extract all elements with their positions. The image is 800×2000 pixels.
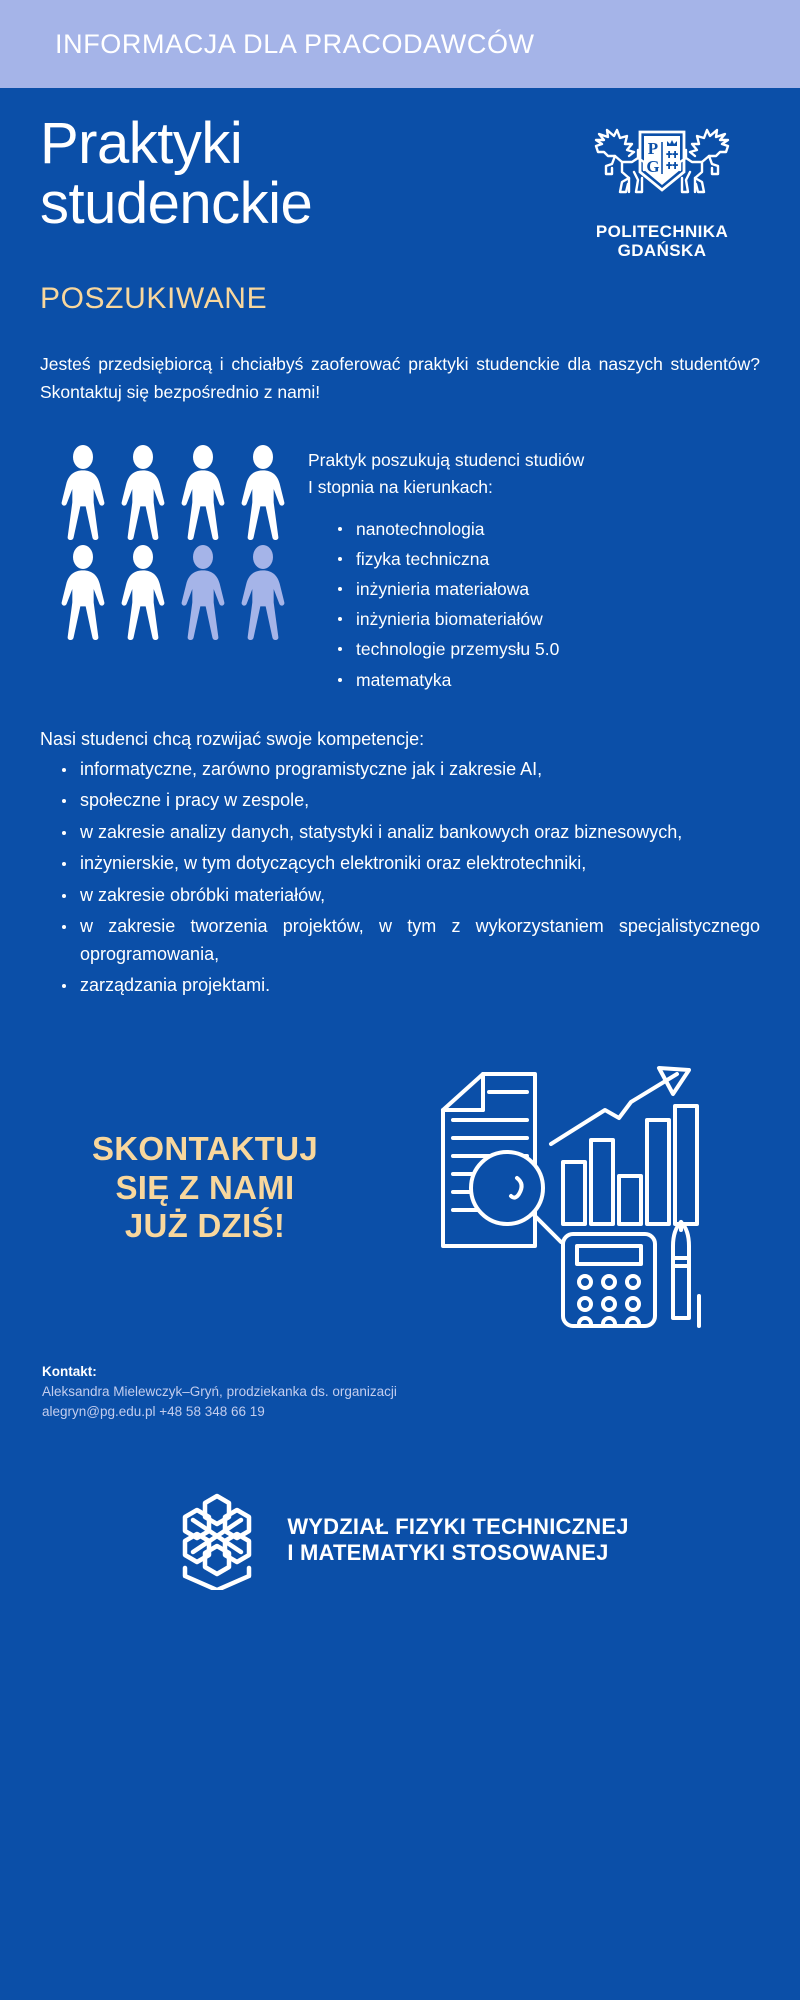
fields-section: Praktyk poszukują studenci studiów I sto… bbox=[40, 445, 760, 695]
list-item: matematyka bbox=[338, 665, 584, 695]
cta-headline: SKONTAKTUJ SIĘ Z NAMI JUŻ DZIŚ! bbox=[40, 1130, 370, 1245]
shield-letter-p: P bbox=[648, 139, 658, 158]
university-logo: P G POLITECHNIKA GDAŃSKA bbox=[572, 122, 752, 260]
contact-person: Aleksandra Mielewczyk–Gryń, prodziekanka… bbox=[42, 1382, 760, 1402]
intro-paragraph: Jesteś przedsiębiorcą i chciałbyś zaofer… bbox=[40, 350, 760, 407]
cta-section: SKONTAKTUJ SIĘ Z NAMI JUŻ DZIŚ! bbox=[40, 1048, 760, 1328]
competences-lead: Nasi studenci chcą rozwijać swoje kompet… bbox=[40, 729, 760, 750]
person-icon-4 bbox=[236, 445, 290, 541]
contact-label: Kontakt: bbox=[42, 1364, 760, 1379]
list-item: zarządzania projektami. bbox=[62, 972, 760, 1000]
person-icon-7-dim bbox=[176, 545, 230, 641]
list-item: technologie przemysłu 5.0 bbox=[338, 634, 584, 664]
list-item: w zakresie tworzenia projektów, w tym z … bbox=[62, 913, 760, 968]
header-banner: INFORMACJA DLA PRACODAWCÓW bbox=[0, 0, 800, 88]
pg-crest-icon: P G bbox=[582, 122, 742, 214]
illustration-svg bbox=[405, 1048, 725, 1328]
magnifier-icon bbox=[471, 1152, 561, 1242]
people-graphic bbox=[40, 445, 290, 641]
page-subtitle: POSZUKIWANE bbox=[40, 282, 760, 316]
person-icon-3 bbox=[176, 445, 230, 541]
list-item: w zakresie obróbki materiałów, bbox=[62, 882, 760, 910]
list-item: w zakresie analizy danych, statystyki i … bbox=[62, 819, 760, 847]
calculator-icon bbox=[563, 1234, 655, 1328]
competences-list: informatyczne, zarówno programistyczne j… bbox=[40, 756, 760, 1000]
fields-lead: Praktyk poszukują studenci studiów I sto… bbox=[308, 447, 584, 502]
title-row: Praktyki studenckie bbox=[40, 88, 760, 260]
poster-body: Praktyki studenckie bbox=[0, 88, 800, 1590]
list-item: inżynieria biomateriałów bbox=[338, 604, 584, 634]
list-item: inżynierskie, w tym dotyczących elektron… bbox=[62, 850, 760, 878]
contact-email-phone[interactable]: alegryn@pg.edu.pl +48 58 348 66 19 bbox=[42, 1402, 760, 1422]
faculty-footer: WYDZIAŁ FIZYKI TECHNICZNEJ I MATEMATYKI … bbox=[40, 1490, 760, 1590]
person-icon-5 bbox=[56, 545, 110, 641]
pen-icon bbox=[673, 1222, 699, 1326]
university-logo-name: POLITECHNIKA GDAŃSKA bbox=[572, 222, 752, 260]
page-title: Praktyki studenckie bbox=[40, 114, 312, 235]
person-icon-1 bbox=[56, 445, 110, 541]
person-icon-2 bbox=[116, 445, 170, 541]
faculty-molecule-icon bbox=[171, 1490, 263, 1590]
contact-block: Kontakt: Aleksandra Mielewczyk–Gryń, pro… bbox=[40, 1364, 760, 1423]
list-item: fizyka techniczna bbox=[338, 544, 584, 574]
shield-letter-g: G bbox=[646, 157, 659, 176]
business-analytics-illustration bbox=[370, 1048, 760, 1328]
fields-text-block: Praktyk poszukują studenci studiów I sto… bbox=[290, 445, 584, 695]
list-item: nanotechnologia bbox=[338, 514, 584, 544]
list-item: inżynieria materiałowa bbox=[338, 574, 584, 604]
competences-section: Nasi studenci chcą rozwijać swoje kompet… bbox=[40, 729, 760, 1000]
header-banner-text: INFORMACJA DLA PRACODAWCÓW bbox=[55, 29, 535, 60]
list-item: społeczne i pracy w zespole, bbox=[62, 787, 760, 815]
fields-list: nanotechnologia fizyka techniczna inżyni… bbox=[308, 514, 584, 695]
list-item: informatyczne, zarówno programistyczne j… bbox=[62, 756, 760, 784]
faculty-name: WYDZIAŁ FIZYKI TECHNICZNEJ I MATEMATYKI … bbox=[287, 1514, 628, 1568]
person-icon-8-dim bbox=[236, 545, 290, 641]
person-icon-6 bbox=[116, 545, 170, 641]
